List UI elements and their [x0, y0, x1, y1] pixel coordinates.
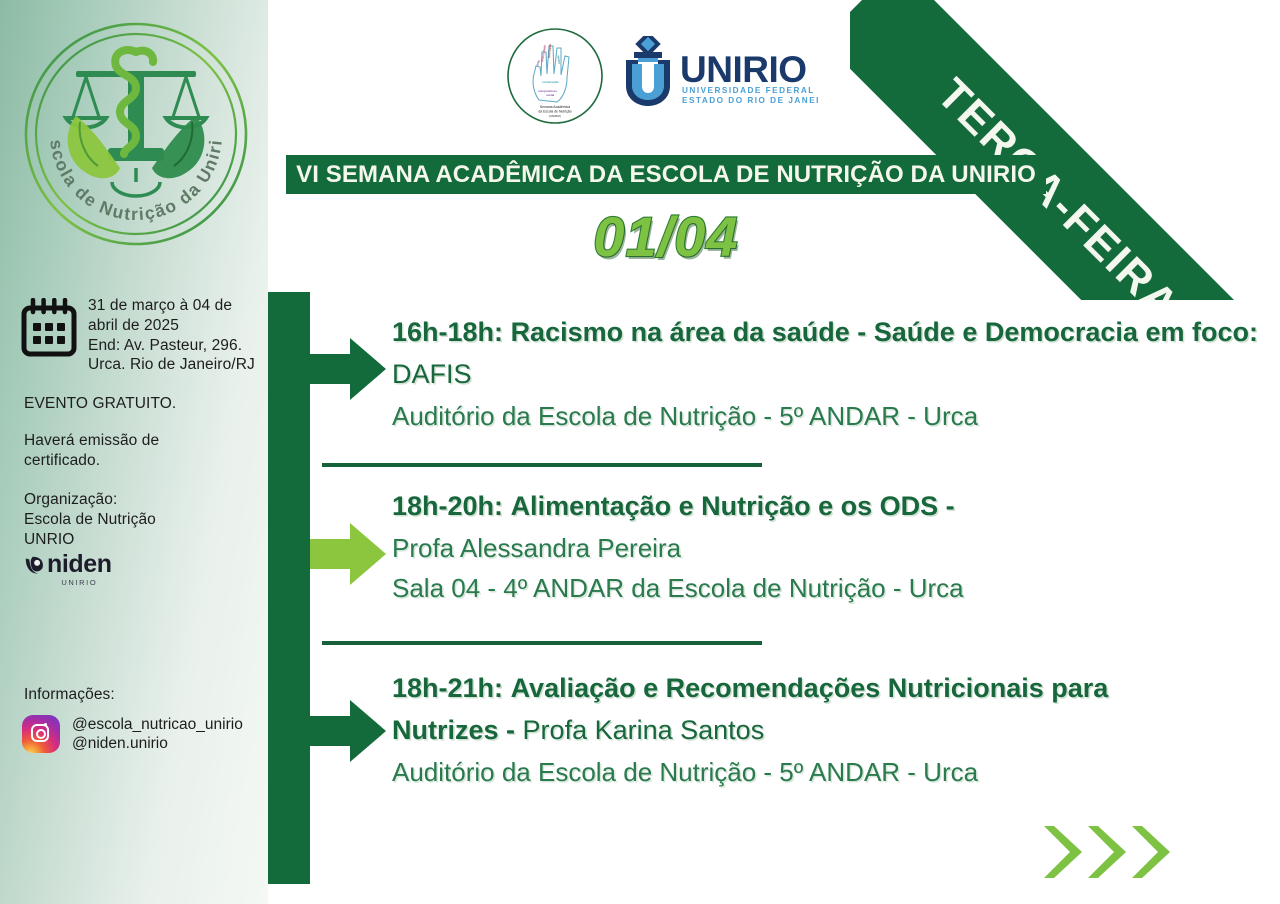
organization-note: Organização: Escola de Nutrição UNRIO — [24, 490, 224, 549]
organization-name: Escola de Nutrição — [24, 510, 224, 530]
organization-university: UNRIO — [24, 530, 224, 550]
hand-logo-caption-1: Semana Acadêmica — [540, 105, 570, 109]
event-item: 16h-18h: Racismo na área da saúde - Saúd… — [392, 312, 1258, 436]
certificate-note: Haverá emissão de certificado. — [24, 431, 214, 471]
calendar-icon — [20, 298, 78, 360]
niden-leaf-icon — [24, 555, 45, 576]
info-label: Informações: — [24, 685, 224, 705]
instagram-handle-escola[interactable]: @escola_nutricao_unirio — [72, 715, 243, 734]
event-arrow-icon — [310, 330, 388, 408]
sidebar: Escola de Nutrição da Unirio 31 de — [0, 0, 268, 904]
schedule-separator — [322, 463, 762, 467]
svg-text:social: social — [546, 93, 554, 97]
event-item: 18h-21h: Avaliação e Recomendações Nutri… — [392, 668, 1202, 792]
poster-date: 01/04 — [286, 204, 1046, 269]
chevron-right-icon — [1088, 826, 1126, 878]
event-headline: 18h-20h: Alimentação e Nutrição e os ODS… — [392, 486, 1172, 528]
niden-sublabel: UNIRIO — [47, 578, 112, 587]
event-title: VI SEMANA ACADÊMICA DA ESCOLA DE NUTRIÇÃ… — [296, 161, 1036, 189]
event-poster: Escola de Nutrição da Unirio 31 de — [0, 0, 1280, 904]
event-time: 16h-18h: — [392, 317, 503, 347]
event-speaker: Profa Alessandra Pereira — [392, 528, 1172, 568]
date-line-2: abril de 2025 — [88, 316, 258, 336]
hand-logo-caption-2: da Escola de Nutrição — [538, 109, 571, 113]
schedule-separator — [322, 641, 762, 645]
event-speaker: Profa Karina Santos — [523, 715, 765, 745]
instagram-icon[interactable] — [22, 715, 60, 753]
schedule-vertical-bar — [268, 292, 310, 884]
organization-label: Organização: — [24, 490, 224, 510]
event-location: Auditório da Escola de Nutrição - 5º AND… — [392, 396, 1258, 436]
escola-de-nutricao-seal-logo: Escola de Nutrição da Unirio — [20, 18, 252, 250]
address-line-2: Urca. Rio de Janeiro/RJ — [88, 355, 258, 375]
event-arrow-icon — [310, 515, 388, 593]
event-location: Sala 04 - 4º ANDAR da Escola de Nutrição… — [392, 568, 1172, 608]
instagram-handle-niden[interactable]: @niden.unirio — [72, 734, 243, 753]
event-dates-address: 31 de março à 04 de abril de 2025 End: A… — [88, 296, 258, 375]
unirio-logo: UNIRIO UNIVERSIDADE FEDERAL DO ESTADO DO… — [618, 36, 818, 108]
event-title-text: Alimentação e Nutrição e os ODS - — [511, 491, 955, 521]
address-line-1: End: Av. Pasteur, 296. — [88, 336, 258, 356]
certificate-line-2: certificado. — [24, 451, 214, 471]
svg-text:construção: construção — [542, 80, 559, 84]
event-item: 18h-20h: Alimentação e Nutrição e os ODS… — [392, 486, 1172, 608]
date-line-1: 31 de março à 04 de — [88, 296, 258, 316]
hand-logo-caption-3: (UNIRIO) — [549, 114, 561, 118]
event-time: 18h-20h: — [392, 491, 503, 521]
event-headline: 16h-18h: Racismo na área da saúde - Saúd… — [392, 312, 1258, 396]
chevron-decoration — [1042, 820, 1192, 884]
unirio-wordmark: UNIRIO — [680, 49, 807, 90]
unirio-subtitle-2: ESTADO DO RIO DE JANEIRO — [682, 96, 818, 105]
event-title-banner: VI SEMANA ACADÊMICA DA ESCOLA DE NUTRIÇÃ… — [286, 155, 1046, 194]
niden-logo: niden UNIRIO — [24, 552, 112, 587]
free-event-note: EVENTO GRATUITO. — [24, 394, 244, 414]
instagram-contact[interactable]: @escola_nutricao_unirio @niden.unirio — [22, 715, 243, 753]
event-time: 18h-21h: — [392, 673, 503, 703]
certificate-line-1: Haverá emissão de — [24, 431, 214, 451]
event-speaker: DAFIS — [392, 359, 472, 389]
chevron-right-icon — [1132, 826, 1170, 878]
chevron-right-icon — [1044, 826, 1082, 878]
event-arrow-icon — [310, 692, 388, 770]
event-title-text: Racismo na área da saúde - Saúde e Democ… — [511, 317, 1258, 347]
unirio-subtitle-1: UNIVERSIDADE FEDERAL DO — [682, 86, 818, 95]
niden-wordmark: niden — [47, 552, 112, 577]
semana-academica-hand-logo: arte diversidade formação saúde construç… — [505, 26, 605, 126]
event-headline: 18h-21h: Avaliação e Recomendações Nutri… — [392, 668, 1202, 752]
event-location: Auditório da Escola de Nutrição - 5º AND… — [392, 752, 1202, 792]
